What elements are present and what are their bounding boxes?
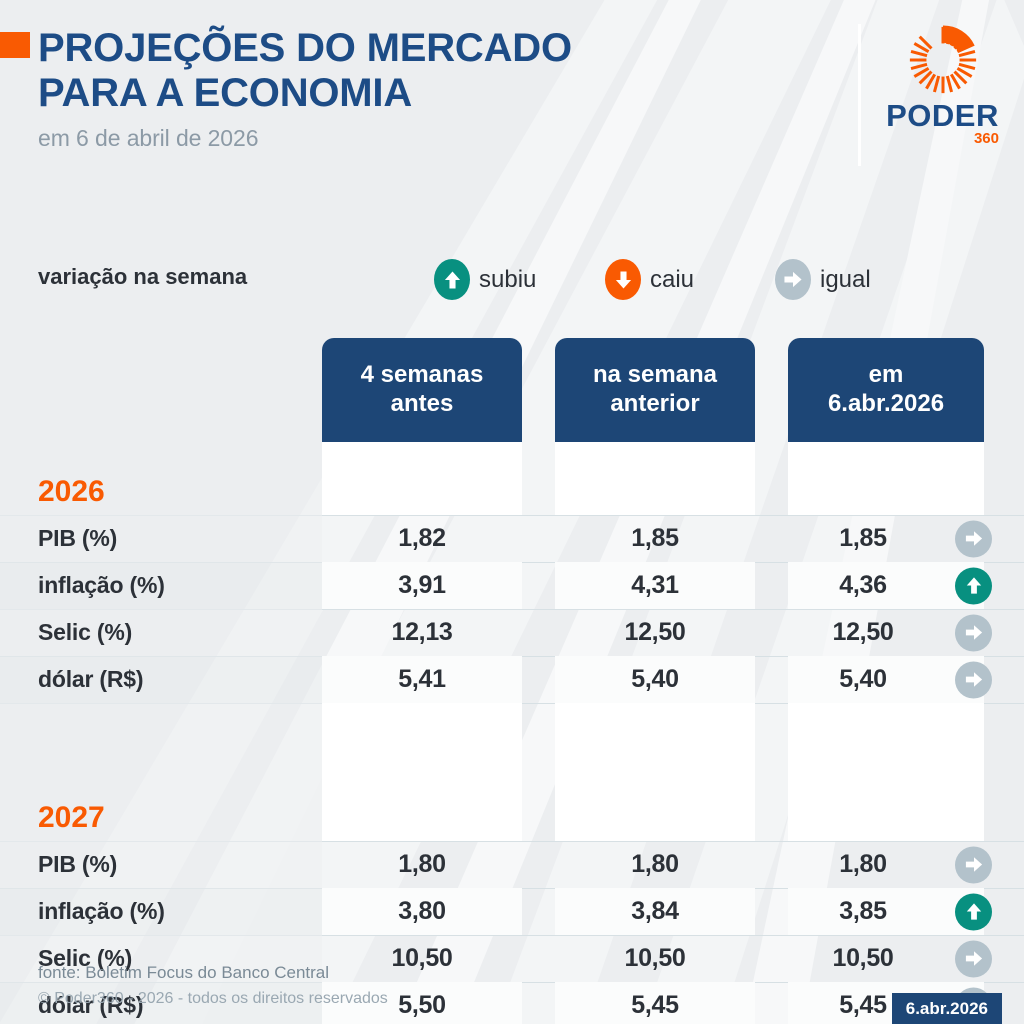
table-row: PIB (%)1,801,801,80 bbox=[0, 841, 1024, 888]
cell-previous-week: 3,84 bbox=[555, 888, 755, 935]
table-body: 2026PIB (%)1,821,851,85inflação (%)3,914… bbox=[0, 442, 1024, 1024]
cell-four-weeks: 1,80 bbox=[322, 841, 522, 888]
cell-current: 1,80 bbox=[788, 841, 938, 888]
footer-copyright: © Poder360 - 2026 - todos os direitos re… bbox=[38, 990, 388, 1008]
cell-current: 10,50 bbox=[788, 935, 938, 982]
column-header-na-semana-anterior: na semana anterior bbox=[555, 338, 755, 442]
cell-previous-week: 5,45 bbox=[555, 982, 755, 1024]
arrow-down-icon bbox=[605, 259, 641, 300]
column-header-em-data: em 6.abr.2026 bbox=[788, 338, 984, 442]
header-divider bbox=[858, 24, 861, 166]
row-label: dólar (R$) bbox=[38, 656, 143, 703]
legend-title: variação na semana bbox=[38, 264, 247, 290]
column-header-line-2: 6.abr.2026 bbox=[828, 390, 944, 419]
cell-previous-week: 10,50 bbox=[555, 935, 755, 982]
title-block: PROJEÇÕES DO MERCADO PARA A ECONOMIA em … bbox=[38, 26, 798, 152]
footer-source: fonte: Boletim Focus do Banco Central bbox=[38, 963, 388, 983]
section-header-2027: 2027 bbox=[0, 768, 1024, 841]
date-badge: 6.abr.2026 bbox=[892, 993, 1002, 1024]
legend-item-caiu: caiu bbox=[605, 259, 694, 300]
table-row: dólar (R$)5,415,405,40 bbox=[0, 656, 1024, 703]
row-label: inflação (%) bbox=[38, 888, 165, 935]
column-header-4-semanas-antes: 4 semanas antes bbox=[322, 338, 522, 442]
section-year-label: 2026 bbox=[38, 442, 105, 515]
legend-item-subiu: subiu bbox=[434, 259, 536, 300]
page-title-line-1: PROJEÇÕES DO MERCADO bbox=[38, 26, 798, 71]
section-header-2026: 2026 bbox=[0, 442, 1024, 515]
cell-current: 4,36 bbox=[788, 562, 938, 609]
page-subtitle: em 6 de abril de 2026 bbox=[38, 125, 798, 152]
trend-indicator-up bbox=[955, 893, 992, 930]
cell-four-weeks: 3,91 bbox=[322, 562, 522, 609]
cell-four-weeks: 3,80 bbox=[322, 888, 522, 935]
arrow-right-icon bbox=[775, 259, 811, 300]
page-header: PROJEÇÕES DO MERCADO PARA A ECONOMIA em … bbox=[0, 0, 1024, 180]
legend-item-igual: igual bbox=[775, 259, 871, 300]
poder360-logo: PODER 360 bbox=[880, 24, 1005, 147]
column-header-line-2: antes bbox=[361, 390, 484, 419]
trend-indicator-up bbox=[955, 567, 992, 604]
legend-label-igual: igual bbox=[820, 266, 871, 294]
trend-indicator-eq bbox=[955, 940, 992, 977]
column-header-line-1: na semana bbox=[593, 361, 717, 390]
trend-indicator-eq bbox=[955, 661, 992, 698]
accent-tab bbox=[0, 32, 30, 58]
cell-previous-week: 5,40 bbox=[555, 656, 755, 703]
cell-current: 3,85 bbox=[788, 888, 938, 935]
row-label: inflação (%) bbox=[38, 562, 165, 609]
cell-four-weeks: 5,41 bbox=[322, 656, 522, 703]
table-row: inflação (%)3,803,843,85 bbox=[0, 888, 1024, 935]
trend-indicator-eq bbox=[955, 520, 992, 557]
cell-previous-week: 1,80 bbox=[555, 841, 755, 888]
row-label: Selic (%) bbox=[38, 609, 132, 656]
cell-previous-week: 12,50 bbox=[555, 609, 755, 656]
page-title-line-2: PARA A ECONOMIA bbox=[38, 71, 798, 116]
legend-label-caiu: caiu bbox=[650, 266, 694, 294]
row-label: PIB (%) bbox=[38, 515, 117, 562]
row-label: PIB (%) bbox=[38, 841, 117, 888]
label-band bbox=[0, 703, 322, 768]
logo-wordmark: PODER bbox=[880, 100, 1005, 131]
cell-four-weeks: 12,13 bbox=[322, 609, 522, 656]
cell-four-weeks: 1,82 bbox=[322, 515, 522, 562]
table-row: PIB (%)1,821,851,85 bbox=[0, 515, 1024, 562]
table-row: inflação (%)3,914,314,36 bbox=[0, 562, 1024, 609]
section-year-label: 2027 bbox=[38, 768, 105, 841]
table-row: Selic (%)12,1312,5012,50 bbox=[0, 609, 1024, 656]
legend-label-subiu: subiu bbox=[479, 266, 536, 294]
trend-indicator-eq bbox=[955, 614, 992, 651]
column-header-line-1: em bbox=[828, 361, 944, 390]
arrow-up-icon bbox=[434, 259, 470, 300]
cell-previous-week: 4,31 bbox=[555, 562, 755, 609]
footer: fonte: Boletim Focus do Banco Central © … bbox=[38, 963, 388, 1008]
cell-previous-week: 1,85 bbox=[555, 515, 755, 562]
cell-current: 1,85 bbox=[788, 515, 938, 562]
trend-indicator-eq bbox=[955, 846, 992, 883]
section-spacer bbox=[0, 703, 1024, 768]
cell-current: 5,40 bbox=[788, 656, 938, 703]
sunburst-icon bbox=[907, 24, 979, 96]
cell-current: 12,50 bbox=[788, 609, 938, 656]
column-header-line-1: 4 semanas bbox=[361, 361, 484, 390]
column-header-line-2: anterior bbox=[593, 390, 717, 419]
variation-legend: variação na semana subiu caiu igual bbox=[0, 250, 1024, 310]
